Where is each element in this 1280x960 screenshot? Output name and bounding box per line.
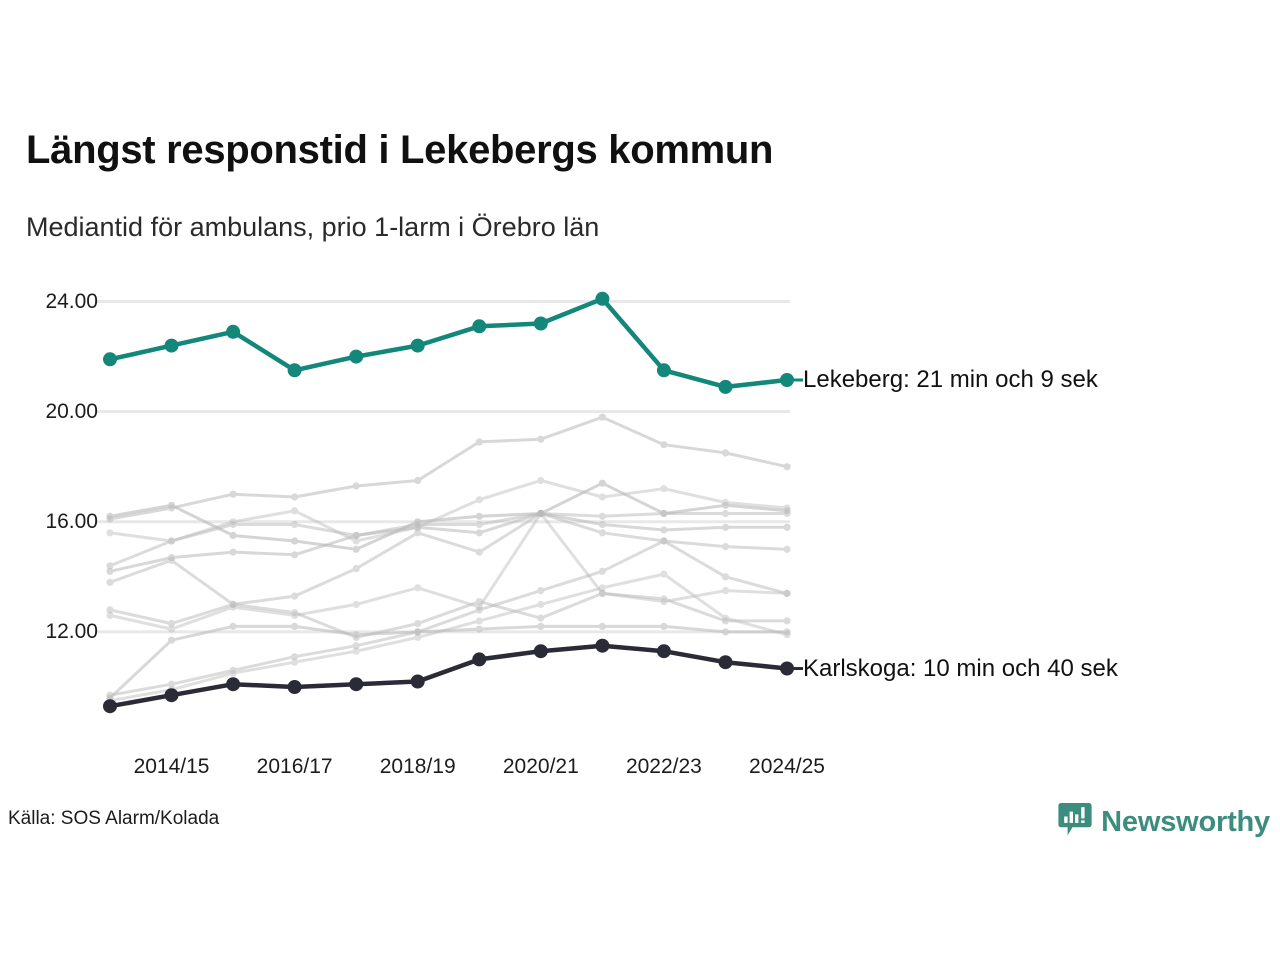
- bar-chart-bubble-icon: [1058, 802, 1092, 843]
- series--rebro-l-n-kommun-k: [106, 537, 790, 698]
- y-axis-tick-label: 20.00: [8, 400, 98, 424]
- x-axis-tick-label: 2016/17: [257, 755, 333, 779]
- x-axis-tick-label: 2022/23: [626, 755, 702, 779]
- x-axis-tick-label: 2020/21: [503, 755, 579, 779]
- x-axis-tick-label: 2018/19: [380, 755, 456, 779]
- series--rebro-l-n-kommun-a: [106, 414, 790, 523]
- series--rebro-l-n-kommun-j: [106, 571, 790, 705]
- newsworthy-logo: Newsworthy: [1058, 802, 1270, 843]
- y-axis-tick-label: 16.00: [8, 510, 98, 534]
- series-annotation-lekeberg: Lekeberg: 21 min och 9 sek: [803, 366, 1098, 394]
- y-axis-tick-label: 12.00: [8, 620, 98, 644]
- source-note: Källa: SOS Alarm/Kolada: [8, 808, 219, 830]
- series-annotation-karlskoga: Karlskoga: 10 min och 40 sek: [803, 655, 1118, 683]
- logo-wordmark: Newsworthy: [1101, 806, 1270, 839]
- x-axis-tick-label: 2014/15: [134, 755, 210, 779]
- chart-page: Längst responstid i Lekebergs kommun Med…: [0, 0, 1280, 960]
- x-axis-tick-label: 2024/25: [749, 755, 825, 779]
- y-axis-tick-label: 24.00: [8, 290, 98, 314]
- series-lekeberg: [103, 292, 794, 394]
